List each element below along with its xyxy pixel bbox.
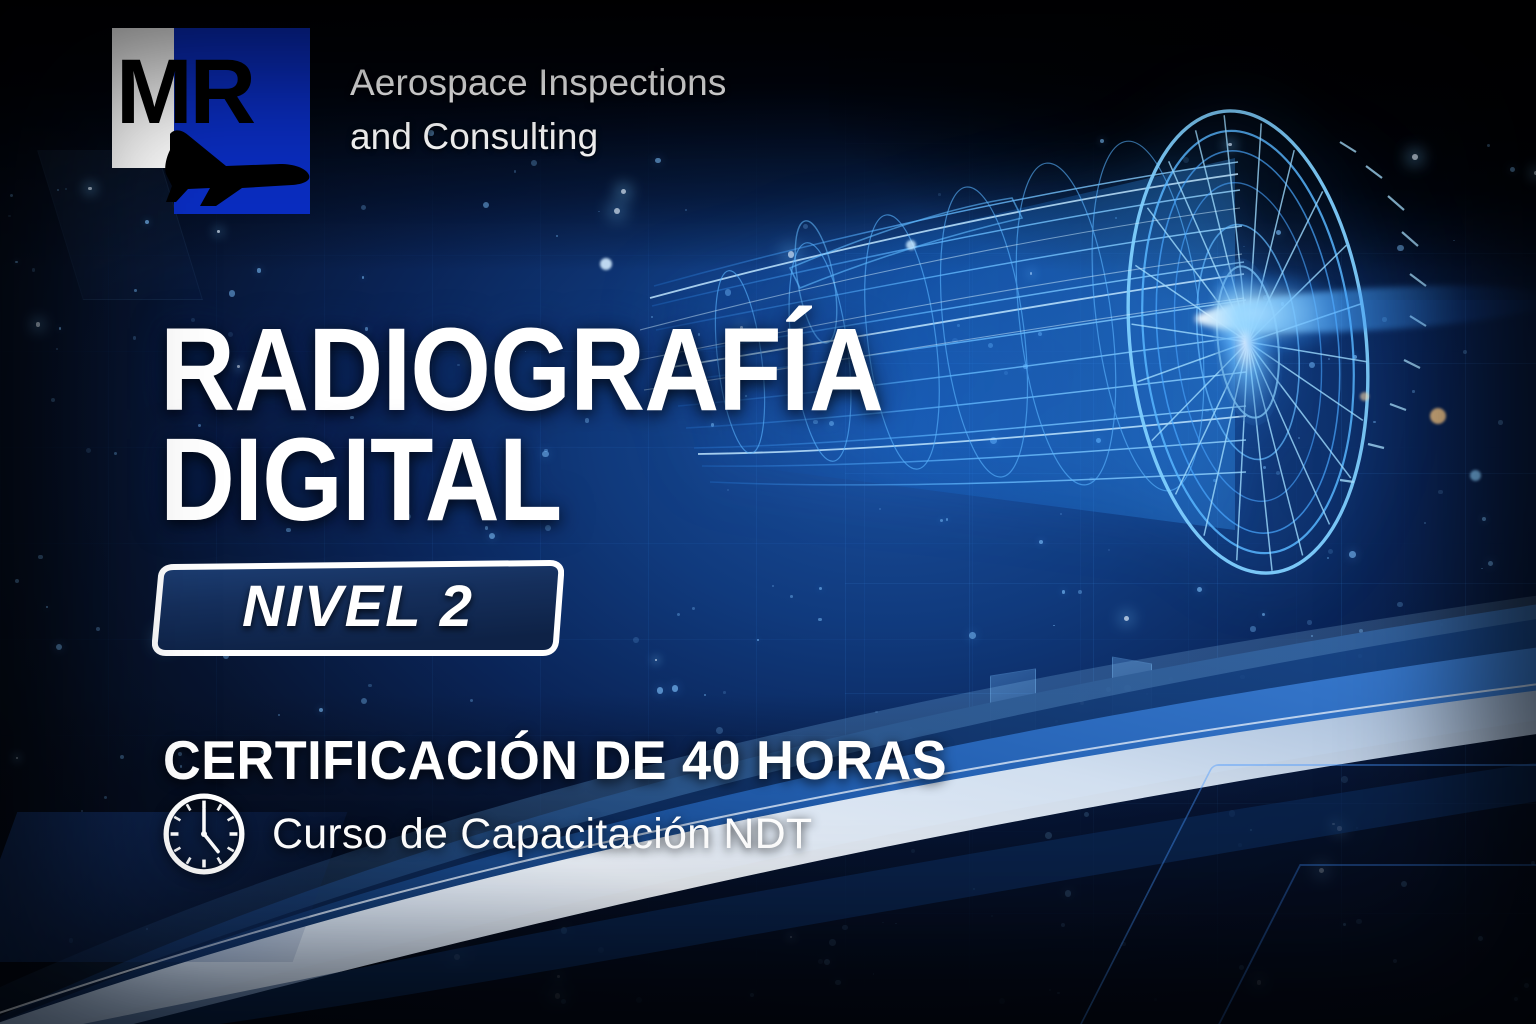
course-row: Curso de Capacitación NDT <box>160 790 812 878</box>
page-title: RADIOGRAFÍA DIGITAL <box>160 316 883 535</box>
company-name: Aerospace Inspections and Consulting <box>350 28 726 164</box>
title-line-2: DIGITAL <box>160 426 883 536</box>
certification-hours: CERTIFICACIÓN DE 40 HORAS <box>163 728 947 792</box>
lens-flare-dot-3 <box>1470 470 1481 481</box>
lens-flare-dot-1 <box>1430 408 1446 424</box>
airplane-icon <box>164 120 314 212</box>
lens-flare-dot-4 <box>600 258 612 270</box>
course-label: Curso de Capacitación NDT <box>272 810 812 859</box>
company-name-line1: Aerospace Inspections <box>350 56 726 110</box>
brand-logo[interactable]: MR Aerospace Inspections and Consulting <box>112 28 726 214</box>
level-badge-label: NIVEL 2 <box>152 558 564 658</box>
clock-icon <box>160 790 248 878</box>
promo-poster: MR Aerospace Inspections and Consulting … <box>0 0 1536 1024</box>
lens-flare-dot-5 <box>906 240 916 250</box>
logo-mark: MR <box>112 28 310 214</box>
title-line-1: RADIOGRAFÍA <box>160 316 883 426</box>
level-badge: NIVEL 2 <box>152 558 564 658</box>
lens-flare-dot-2 <box>1360 392 1369 401</box>
company-name-line2: and Consulting <box>350 110 726 164</box>
